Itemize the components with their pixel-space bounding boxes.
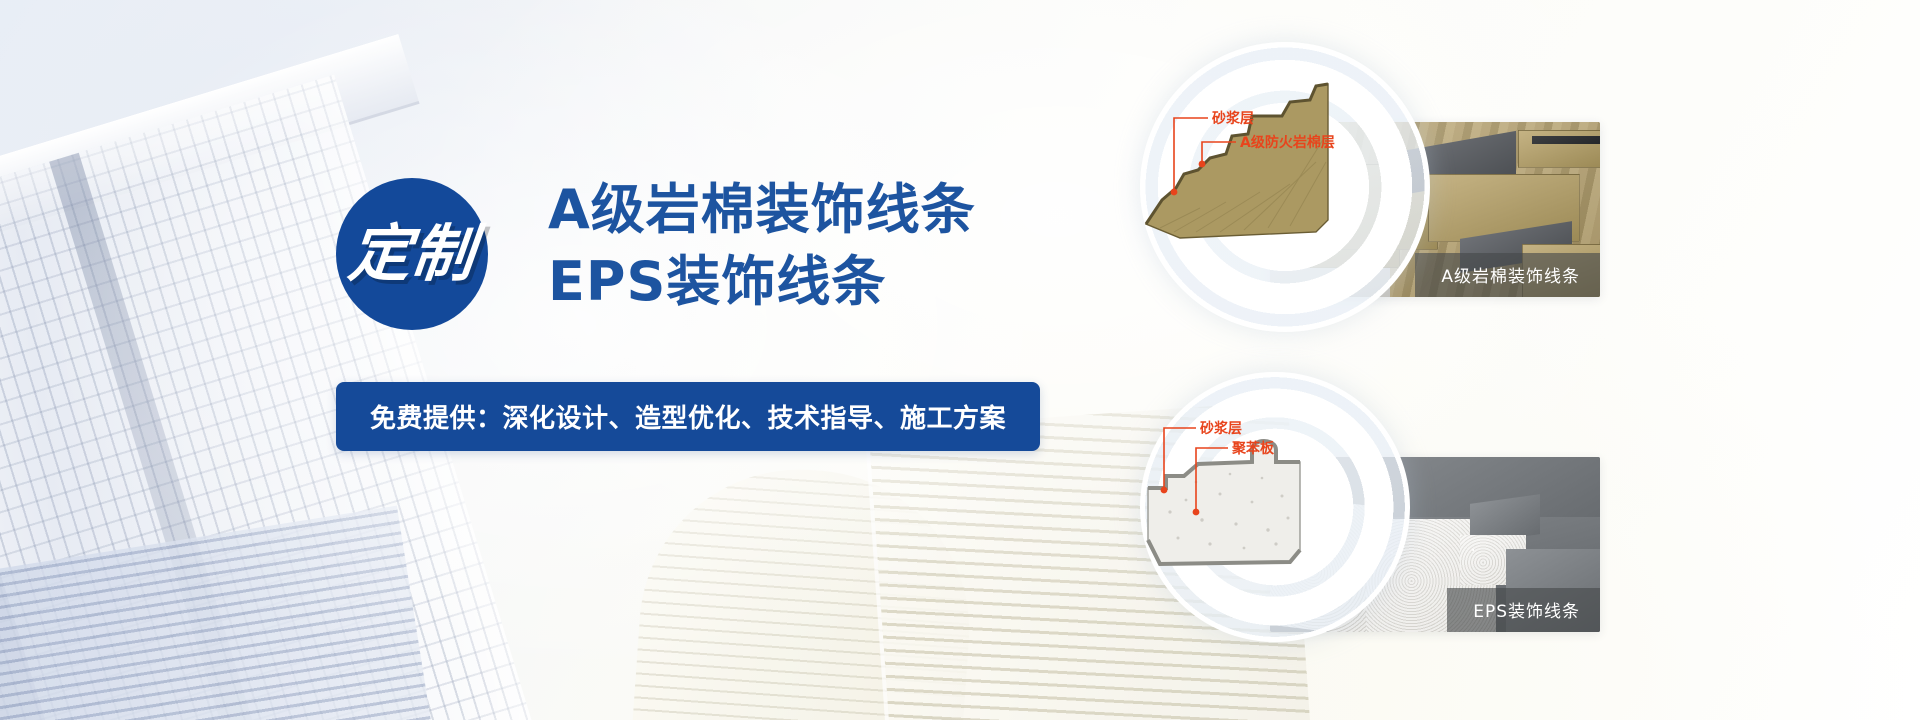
building-tower-b	[0, 506, 438, 720]
photo-detail	[1532, 136, 1600, 144]
annotation-eps-board: 聚苯板	[1232, 438, 1274, 458]
rock-wool-section-svg	[1140, 42, 1430, 332]
headline-group: A级岩棉装饰线条 EPS装饰线条	[548, 174, 976, 319]
cross-section-diagram-eps: 砂浆层 聚苯板	[1140, 372, 1410, 642]
headline-row: 定制 A级岩棉装饰线条 EPS装饰线条	[336, 168, 1096, 348]
cross-section-diagram-rock-wool: 砂浆层 A级防火岩棉层	[1140, 42, 1430, 332]
headline-secondary: EPS装饰线条	[548, 246, 976, 318]
custom-badge: 定制	[336, 178, 488, 330]
headline-primary: A级岩棉装饰线条	[548, 174, 976, 246]
product-caption-rock-wool: A级岩棉装饰线条	[1415, 253, 1600, 297]
building-tower-c	[630, 459, 980, 720]
free-services-text: 免费提供：深化设计、造型优化、技术指导、施工方案	[370, 404, 1006, 434]
free-services-ribbon: 免费提供：深化设计、造型优化、技术指导、施工方案	[336, 382, 1040, 451]
custom-badge-label: 定制	[346, 223, 479, 285]
promo-banner: 定制 A级岩棉装饰线条 EPS装饰线条 免费提供：深化设计、造型优化、技术指导、…	[0, 0, 1920, 720]
annotation-rock-wool-layer: A级防火岩棉层	[1240, 132, 1335, 152]
eps-section-svg	[1140, 372, 1410, 642]
banner-copy-block: 定制 A级岩棉装饰线条 EPS装饰线条 免费提供：深化设计、造型优化、技术指导、…	[336, 168, 1096, 451]
annotation-mortar-layer: 砂浆层	[1200, 418, 1242, 438]
annotation-mortar-layer: 砂浆层	[1212, 108, 1254, 128]
product-caption-eps: EPS装饰线条	[1447, 588, 1600, 632]
